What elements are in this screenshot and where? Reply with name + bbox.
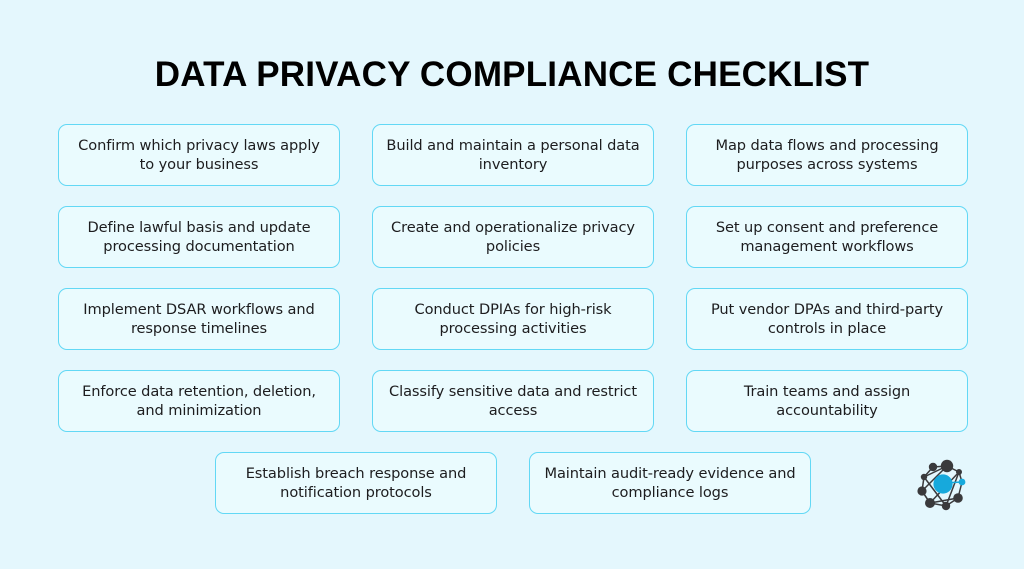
checklist-item[interactable]: Classify sensitive data and restrict acc…: [372, 370, 654, 432]
checklist-item-label: Train teams and assign accountability: [697, 382, 957, 420]
checklist-item-label: Establish breach response and notificati…: [226, 464, 486, 502]
checklist-row: Implement DSAR workflows and response ti…: [58, 288, 968, 350]
checklist-item[interactable]: Define lawful basis and update processin…: [58, 206, 340, 268]
checklist-item-label: Conduct DPIAs for high-risk processing a…: [383, 300, 643, 338]
checklist-item[interactable]: Create and operationalize privacy polici…: [372, 206, 654, 268]
network-nodes-logo: [912, 455, 974, 515]
checklist-item[interactable]: Build and maintain a personal data inven…: [372, 124, 654, 186]
checklist-item[interactable]: Set up consent and preference management…: [686, 206, 968, 268]
checklist-grid: Confirm which privacy laws apply to your…: [58, 124, 968, 534]
checklist-row: Confirm which privacy laws apply to your…: [58, 124, 968, 186]
checklist-row: Enforce data retention, deletion, and mi…: [58, 370, 968, 432]
checklist-item[interactable]: Map data flows and processing purposes a…: [686, 124, 968, 186]
checklist-item-label: Implement DSAR workflows and response ti…: [69, 300, 329, 338]
checklist-item-label: Put vendor DPAs and third-party controls…: [697, 300, 957, 338]
checklist-item[interactable]: Put vendor DPAs and third-party controls…: [686, 288, 968, 350]
checklist-item-label: Define lawful basis and update processin…: [69, 218, 329, 256]
page-title: DATA PRIVACY COMPLIANCE CHECKLIST: [0, 52, 1024, 98]
checklist-item-label: Enforce data retention, deletion, and mi…: [69, 382, 329, 420]
checklist-item-label: Set up consent and preference management…: [697, 218, 957, 256]
checklist-item-label: Map data flows and processing purposes a…: [697, 136, 957, 174]
checklist-item-label: Create and operationalize privacy polici…: [383, 218, 643, 256]
infographic-canvas: DATA PRIVACY COMPLIANCE CHECKLIST Confir…: [0, 0, 1024, 569]
checklist-item-label: Confirm which privacy laws apply to your…: [69, 136, 329, 174]
checklist-item-label: Classify sensitive data and restrict acc…: [383, 382, 643, 420]
checklist-item-label: Build and maintain a personal data inven…: [383, 136, 643, 174]
checklist-item[interactable]: Implement DSAR workflows and response ti…: [58, 288, 340, 350]
checklist-row: Define lawful basis and update processin…: [58, 206, 968, 268]
checklist-item[interactable]: Establish breach response and notificati…: [215, 452, 497, 514]
checklist-row: Establish breach response and notificati…: [58, 452, 968, 514]
checklist-item[interactable]: Train teams and assign accountability: [686, 370, 968, 432]
checklist-item[interactable]: Conduct DPIAs for high-risk processing a…: [372, 288, 654, 350]
checklist-item[interactable]: Maintain audit-ready evidence and compli…: [529, 452, 811, 514]
checklist-item[interactable]: Enforce data retention, deletion, and mi…: [58, 370, 340, 432]
checklist-item-label: Maintain audit-ready evidence and compli…: [540, 464, 800, 502]
checklist-item[interactable]: Confirm which privacy laws apply to your…: [58, 124, 340, 186]
